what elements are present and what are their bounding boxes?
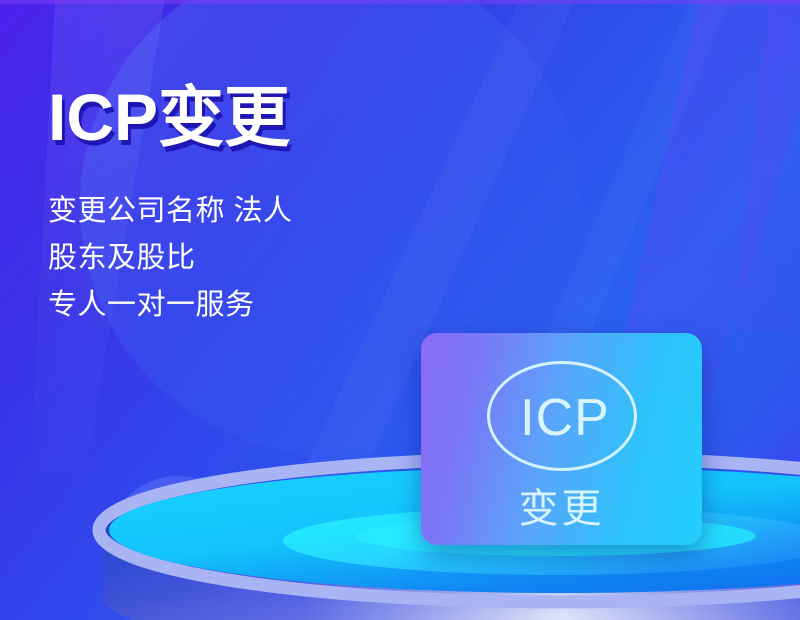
icp-badge-text: ICP xyxy=(490,364,640,474)
icp-change-banner: ICP 变更 ICP变更 变更公司名称 法人 股东及股比 专人一对一服务 xyxy=(0,0,800,620)
subtitle-line: 专人一对一服务 xyxy=(48,282,448,329)
subtitle-line: 股东及股比 xyxy=(48,235,448,282)
icp-card-caption: 变更 xyxy=(421,476,702,534)
icp-oval-ring-icon: ICP xyxy=(487,361,637,471)
icp-card[interactable]: ICP 变更 xyxy=(421,333,702,545)
page-title: ICP变更 xyxy=(48,84,448,150)
copy-block: ICP变更 变更公司名称 法人 股东及股比 专人一对一服务 xyxy=(48,84,448,329)
subtitle-block: 变更公司名称 法人 股东及股比 专人一对一服务 xyxy=(48,188,448,329)
subtitle-line: 变更公司名称 法人 xyxy=(48,188,448,235)
icp-card-inner: ICP 变更 xyxy=(421,333,702,545)
